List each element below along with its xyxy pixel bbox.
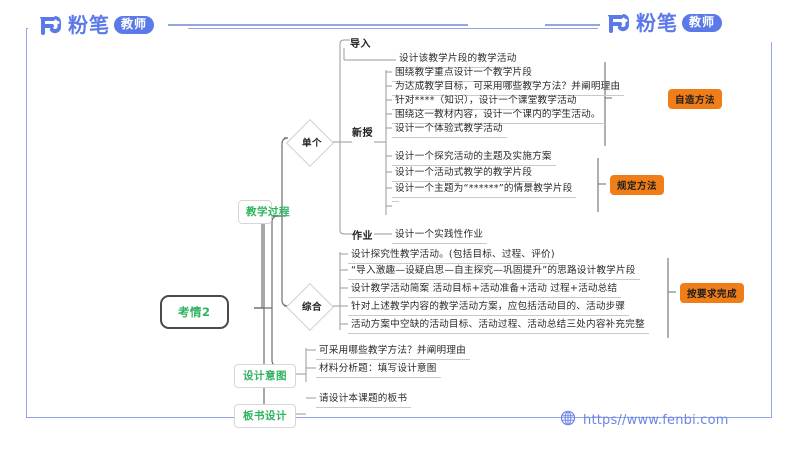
branch-label: 设计意图 xyxy=(243,370,287,382)
branch-teaching-process[interactable]: 教学过程 xyxy=(238,200,272,224)
group-label-intro[interactable]: 导入 xyxy=(350,35,371,50)
leaf-item[interactable]: 设计一个主题为“******”的情景教学片段 xyxy=(392,181,576,198)
leaf-item[interactable]: 可采用哪些教学方法？并阐明理由 xyxy=(316,343,470,360)
leaf-item[interactable]: 设计一个实践性作业 xyxy=(392,227,487,244)
tag-specified-method[interactable]: 规定方法 xyxy=(610,175,664,195)
leaf-item[interactable]: 设计一个体验式教学活动 xyxy=(392,121,507,138)
node-label: 综合 xyxy=(284,289,340,323)
group-label-homework[interactable]: 作业 xyxy=(352,227,373,242)
leaf-item[interactable]: 设计教学活动简案 活动目标+活动准备+活动 过程+活动总结 xyxy=(348,281,621,298)
branch-design-intent[interactable]: 设计意图 xyxy=(234,364,296,388)
leaf-item[interactable]: 针对上述教学内容的教学活动方案，应包括活动目的、活动步骤 xyxy=(348,299,629,316)
website-url: https//www.fenbi.com xyxy=(583,413,729,428)
leaf-item[interactable]: “导入激趣—设疑启思—自主探究—巩固提升”的思路设计教学片段 xyxy=(348,263,640,280)
group-label-new-lesson[interactable]: 新授 xyxy=(352,124,373,139)
mindmap-root-node[interactable]: 考情2 xyxy=(160,295,229,329)
node-comprehensive[interactable]: 综合 xyxy=(284,289,340,323)
branch-label: 板书设计 xyxy=(243,410,287,422)
tag-self-created-method[interactable]: 自造方法 xyxy=(668,89,722,109)
leaf-item[interactable]: 设计一个探究活动的主题及实施方案 xyxy=(392,149,556,166)
leaf-item[interactable]: 请设计本课题的板书 xyxy=(316,391,411,408)
mindmap-canvas: 考情2 教学过程 设计意图 板书设计 单个 综合 导入 新授 作业 设计该教学片… xyxy=(0,0,800,450)
leaf-item[interactable]: 设计一个活动式教学的教学片段 xyxy=(392,165,536,182)
node-label: 单个 xyxy=(284,125,340,159)
leaf-item[interactable]: 活动方案中空缺的活动目标、活动过程、活动总结三处内容补充完整 xyxy=(348,317,649,334)
website-link[interactable]: https//www.fenbi.com xyxy=(560,410,729,431)
branch-label: 教学过程 xyxy=(246,206,290,218)
leaf-item[interactable]: 设计探究性教学活动。(包括目标、过程、评价) xyxy=(348,247,559,264)
branch-board-design[interactable]: 板书设计 xyxy=(234,404,296,428)
leaf-item[interactable]: 材料分析题：填写设计意图 xyxy=(316,361,441,378)
globe-icon xyxy=(560,410,576,431)
tag-as-required[interactable]: 按要求完成 xyxy=(680,283,744,303)
leaf-item[interactable] xyxy=(392,199,399,202)
node-single[interactable]: 单个 xyxy=(284,125,340,159)
